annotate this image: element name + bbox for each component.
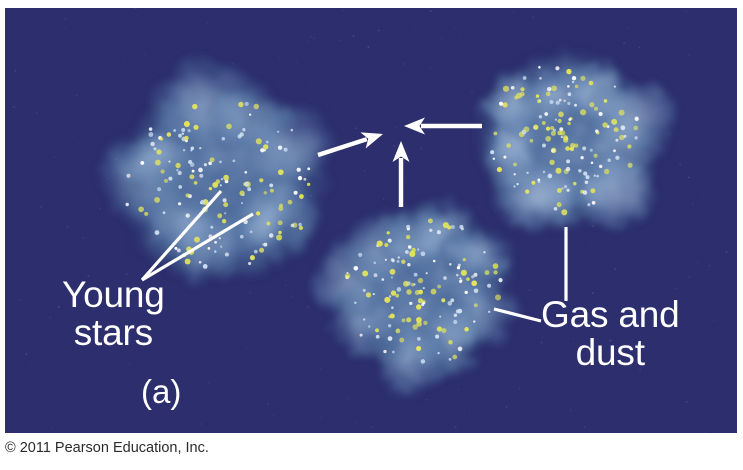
label-gas-and-dust: Gas and dust [541,296,679,372]
space-panel: Young stars Gas and dust (a) [5,8,737,433]
pointer-young-stars-upper [142,191,221,280]
arrow-upper-left-to-center [318,132,383,155]
label-young-stars: Young stars [62,276,165,352]
pointer-young-stars-lower [142,214,253,280]
panel-letter: (a) [141,375,181,408]
arrow-upper-right-to-center [404,118,482,135]
arrow-lower-center-to-center [393,141,410,207]
arrows-group [318,118,482,208]
figure-root: Young stars Gas and dust (a) © 2011 Pear… [0,0,743,470]
copyright-notice: © 2011 Pearson Education, Inc. [5,441,209,456]
pointer-gas-dust-lower-cloud [494,309,541,321]
leader-lines-group [142,191,566,321]
